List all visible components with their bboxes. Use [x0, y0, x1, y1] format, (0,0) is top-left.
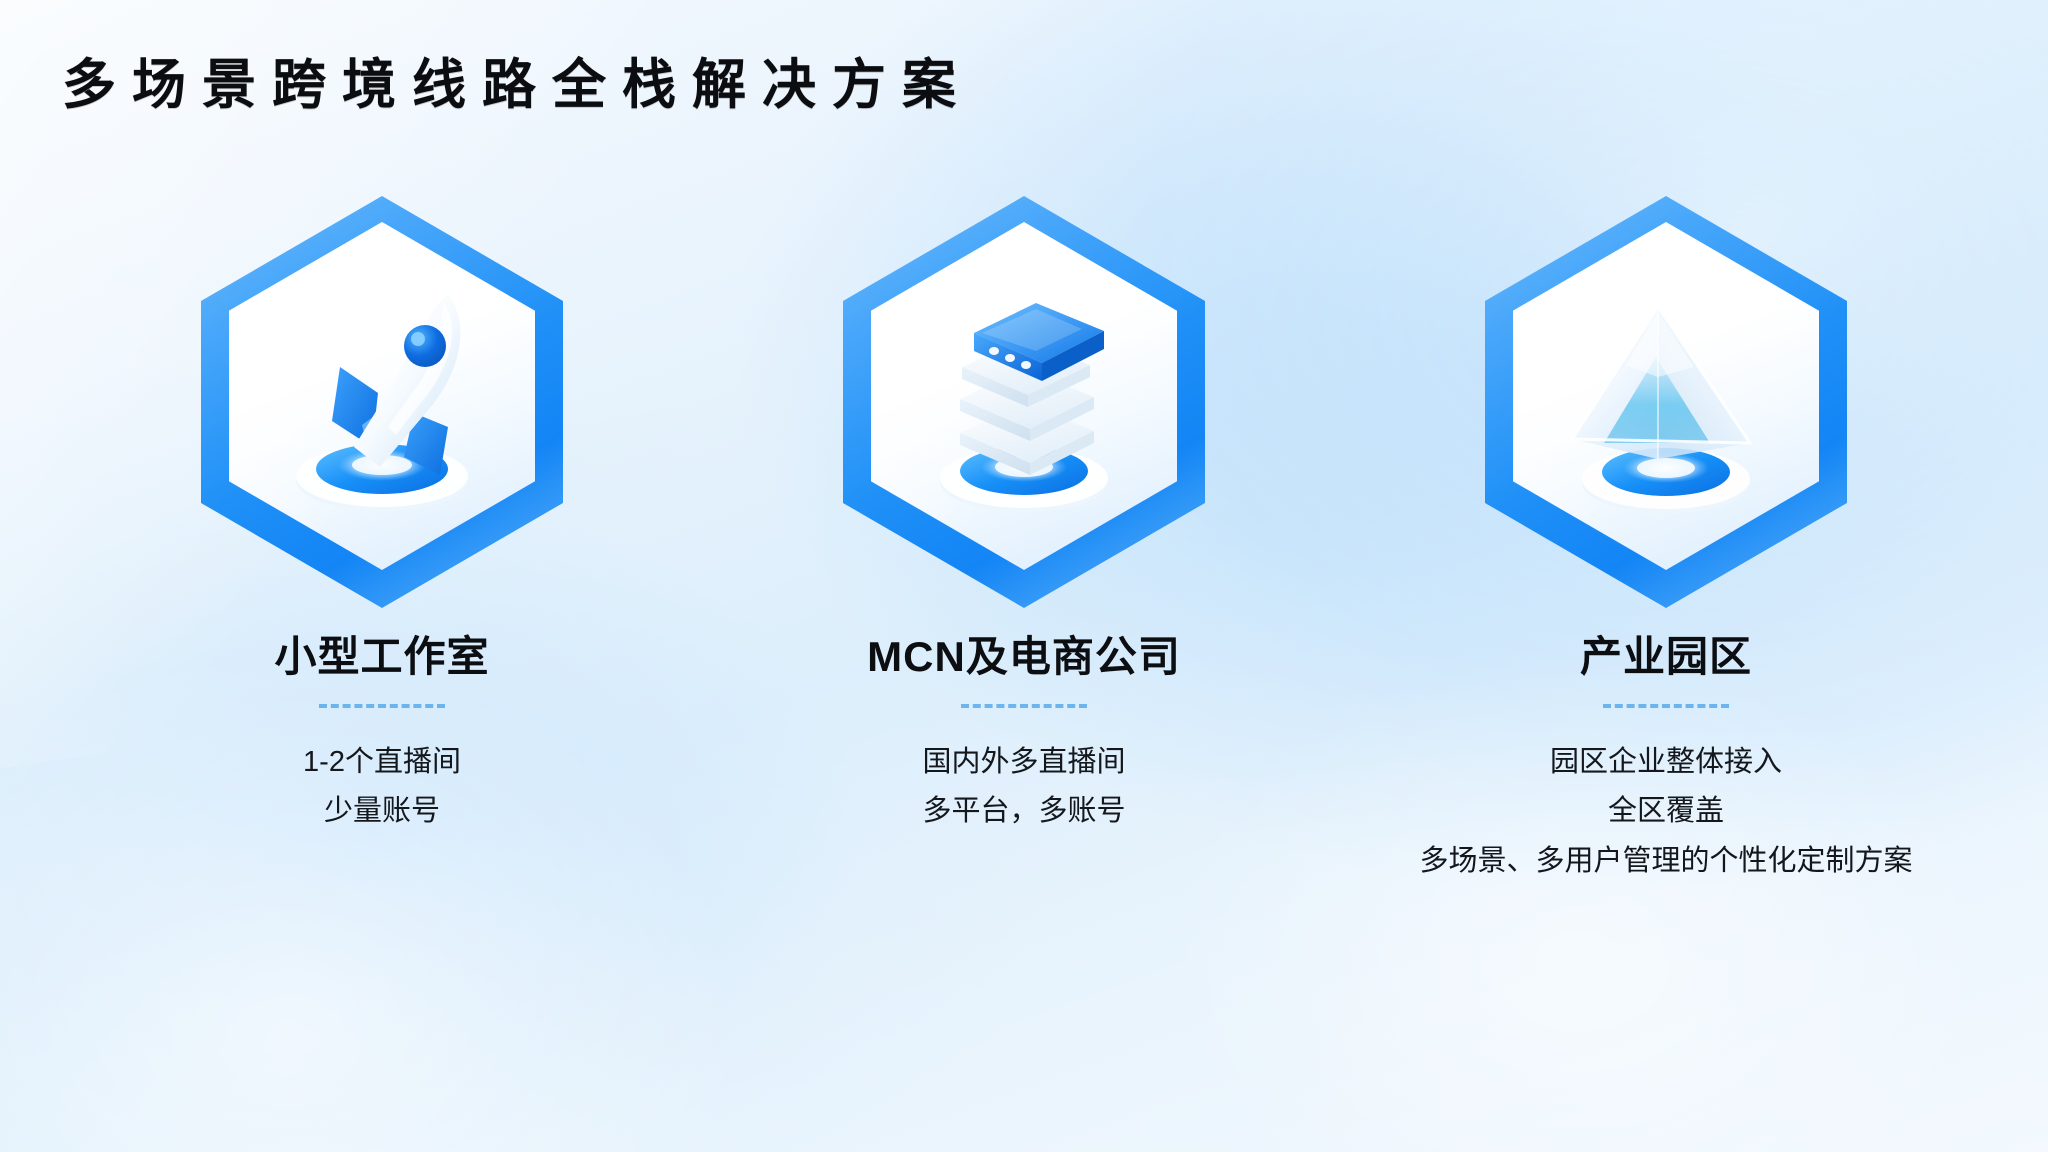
- card-divider: [1603, 704, 1729, 708]
- scenario-card-mcn-ecommerce[interactable]: MCN及电商公司 国内外多直播间 多平台，多账号: [764, 196, 1284, 887]
- scenario-card-list: 小型工作室 1-2个直播间 少量账号: [0, 196, 2048, 887]
- rocket-icon: [229, 222, 535, 570]
- scenario-card-small-studio[interactable]: 小型工作室 1-2个直播间 少量账号: [122, 196, 642, 887]
- card-body-line: 多平台，多账号: [922, 787, 1125, 837]
- server-stack-icon: [871, 222, 1177, 570]
- card-body-line: 全区覆盖: [1419, 787, 1912, 837]
- card-body-line: 国内外多直播间: [922, 738, 1125, 788]
- scenario-card-industrial-park[interactable]: 产业园区 园区企业整体接入 全区覆盖 多场景、多用户管理的个性化定制方案: [1406, 196, 1926, 887]
- page-title: 多场景跨境线路全栈解决方案: [62, 52, 972, 120]
- hexagon-badge: [182, 196, 582, 608]
- card-body: 国内外多直播间 多平台，多账号: [922, 738, 1125, 838]
- hexagon-badge: [1466, 196, 1866, 608]
- card-body-line: 园区企业整体接入: [1419, 738, 1912, 788]
- hexagon-badge: [824, 196, 1224, 608]
- card-body-line: 1-2个直播间: [303, 738, 461, 788]
- glass-pyramid-icon: [1513, 222, 1819, 570]
- card-divider: [961, 704, 1087, 708]
- card-body-line: 少量账号: [303, 787, 461, 837]
- card-body-line: 多场景、多用户管理的个性化定制方案: [1419, 837, 1912, 887]
- card-title: MCN及电商公司: [867, 632, 1181, 682]
- slide-canvas: 多场景跨境线路全栈解决方案: [0, 0, 2048, 1152]
- card-title: 小型工作室: [274, 632, 489, 682]
- card-divider: [319, 704, 445, 708]
- card-title: 产业园区: [1580, 632, 1752, 682]
- card-body: 1-2个直播间 少量账号: [303, 738, 461, 838]
- card-body: 园区企业整体接入 全区覆盖 多场景、多用户管理的个性化定制方案: [1419, 738, 1912, 888]
